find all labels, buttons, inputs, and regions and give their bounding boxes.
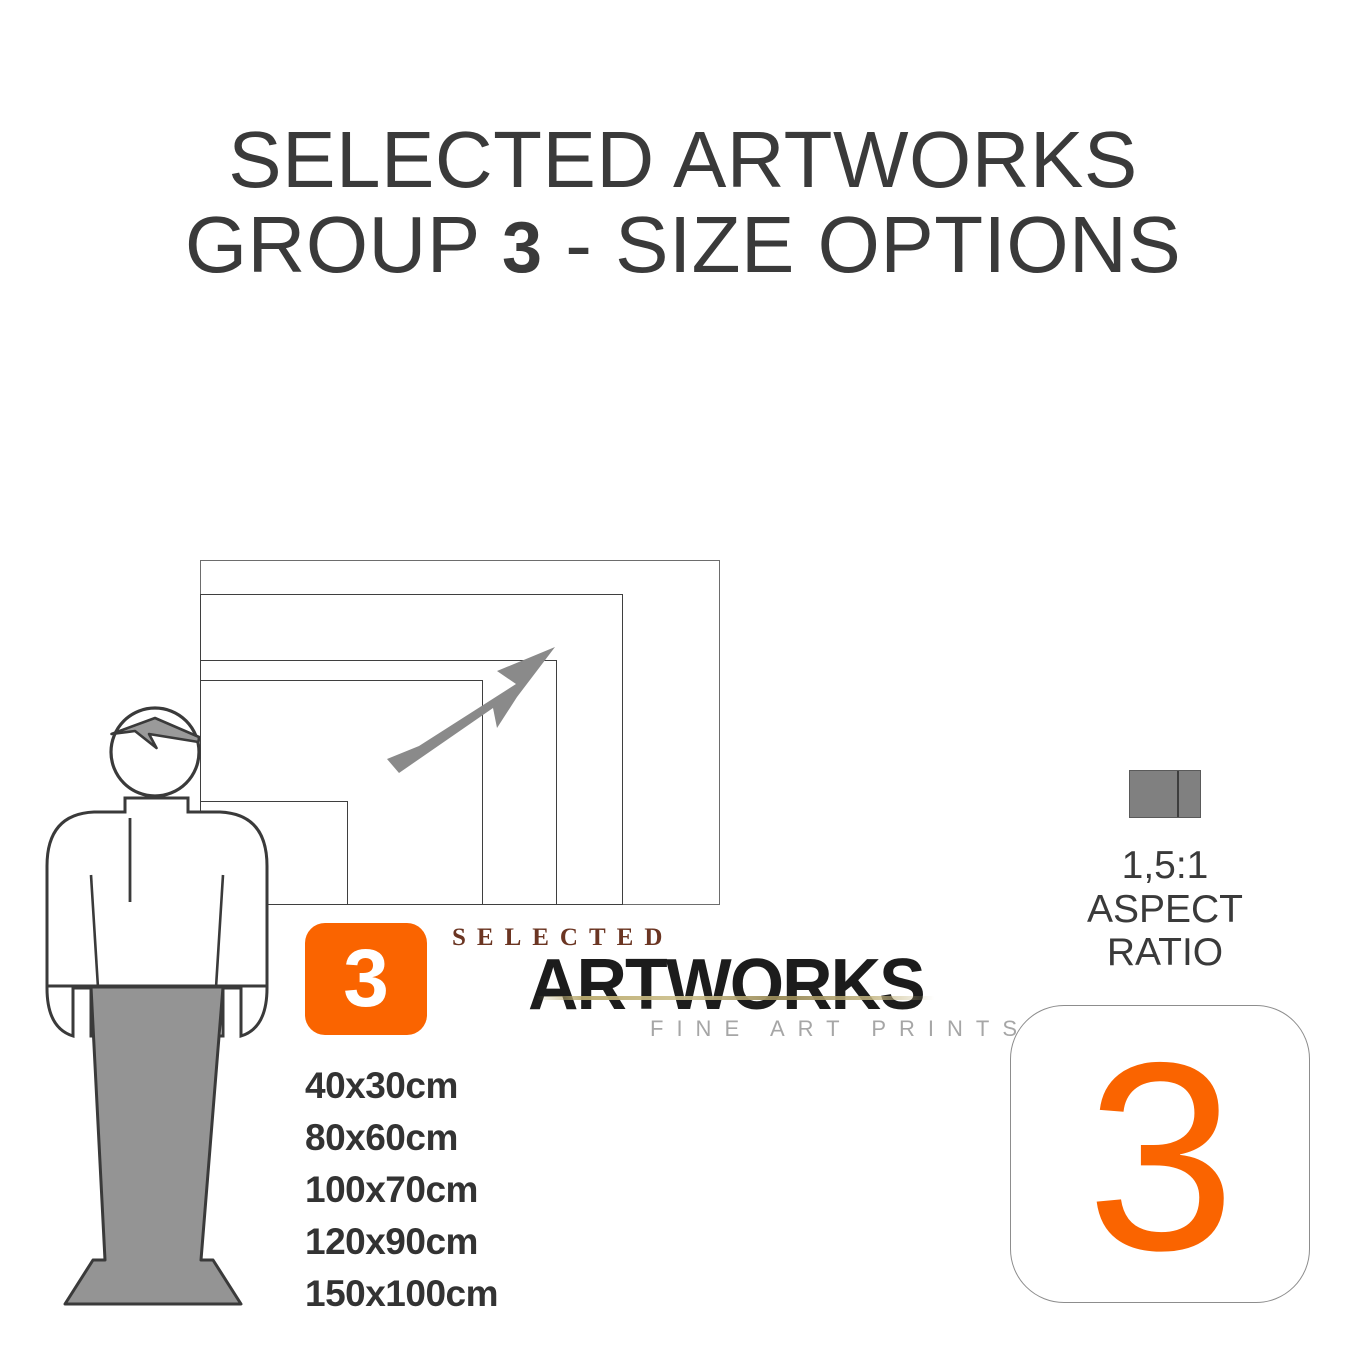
list-item: 100x70cm bbox=[305, 1164, 725, 1216]
title-line-1: SELECTED ARTWORKS bbox=[0, 118, 1366, 203]
aspect-ratio-text: 1,5:1 ASPECT RATIO bbox=[1000, 844, 1330, 975]
list-item: 40x30cm bbox=[305, 1060, 725, 1112]
list-item: 150x100cm bbox=[305, 1268, 725, 1320]
title-line-2: GROUP 3 - SIZE OPTIONS bbox=[0, 203, 1366, 288]
title-size-options-text: - SIZE OPTIONS bbox=[543, 200, 1182, 289]
poster-canvas: SELECTED ARTWORKS GROUP 3 - SIZE OPTIONS bbox=[0, 0, 1366, 1366]
logo-wordmark: SELECTED ARTWORKS FINE ART PRINTS bbox=[440, 918, 940, 1040]
human-scale-figure bbox=[45, 690, 295, 1315]
aspect-ratio-label-1: ASPECT bbox=[1000, 888, 1330, 932]
size-info-block: 3 SELECTED ARTWORKS FINE ART PRINTS 40x3… bbox=[300, 918, 960, 1328]
title-group-word: GROUP bbox=[185, 200, 502, 289]
title-group-number: 3 bbox=[502, 208, 543, 288]
group-number-badge-value: 3 bbox=[1011, 1006, 1311, 1304]
page-title: SELECTED ARTWORKS GROUP 3 - SIZE OPTIONS bbox=[0, 118, 1366, 288]
group-number-badge: 3 bbox=[1010, 1005, 1310, 1303]
aspect-ratio-panel: 1,5:1 ASPECT RATIO bbox=[1000, 762, 1330, 992]
size-options-list: 40x30cm 80x60cm 100x70cm 120x90cm 150x10… bbox=[305, 1060, 725, 1320]
aspect-ratio-value: 1,5:1 bbox=[1000, 844, 1330, 888]
logo-group-badge: 3 bbox=[305, 923, 427, 1035]
aspect-ratio-swatch-icon bbox=[1129, 770, 1201, 818]
aspect-ratio-label-2: RATIO bbox=[1000, 931, 1330, 975]
logo-artworks-text: ARTWORKS bbox=[528, 944, 924, 1026]
logo-tagline-text: FINE ART PRINTS bbox=[650, 1016, 1030, 1042]
logo-group-badge-number: 3 bbox=[305, 923, 427, 1035]
list-item: 80x60cm bbox=[305, 1112, 725, 1164]
title-line-1-text: SELECTED ARTWORKS bbox=[228, 115, 1137, 204]
logo-scratch-decoration bbox=[536, 996, 934, 1000]
brand-logo: 3 SELECTED ARTWORKS FINE ART PRINTS bbox=[300, 918, 960, 1040]
aspect-ratio-swatch-divider bbox=[1177, 771, 1179, 817]
growth-arrow-icon bbox=[385, 645, 575, 775]
list-item: 120x90cm bbox=[305, 1216, 725, 1268]
